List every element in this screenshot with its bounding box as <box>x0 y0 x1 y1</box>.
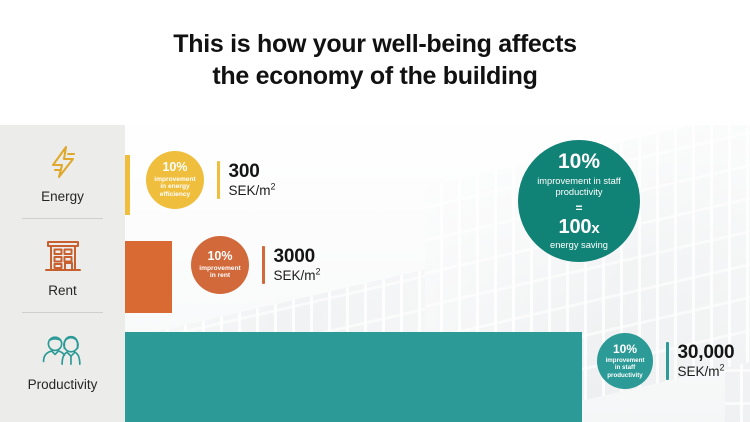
value-unit: SEK/m2 <box>678 364 735 380</box>
value-text: 300 SEK/m2 <box>229 161 276 199</box>
badge-percent: 10% <box>162 161 187 174</box>
metric-energy: 10% improvement in energy efficiency 300… <box>146 151 276 209</box>
badge-productivity: 10% improvement in staff productivity <box>597 333 653 389</box>
lightning-bolt-icon <box>40 139 86 185</box>
badge-subtitle-line-1: improvement <box>154 176 195 184</box>
hero-subtitle-line-2: productivity <box>555 187 602 198</box>
value-group-rent: 3000 SEK/m2 <box>262 246 321 284</box>
badge-subtitle-line-2: in rent <box>210 272 230 280</box>
badge-energy: 10% improvement in energy efficiency <box>146 151 204 209</box>
hero-percent: 10% <box>558 151 600 172</box>
value-number: 3000 <box>274 246 321 267</box>
bar-energy <box>125 155 130 215</box>
sidebar-item-label: Productivity <box>28 378 98 392</box>
value-unit: SEK/m2 <box>229 183 276 199</box>
value-tick <box>262 246 265 284</box>
value-group-energy: 300 SEK/m2 <box>217 161 276 199</box>
hero-callout-circle: 10% improvement in staff productivity = … <box>518 140 640 262</box>
badge-rent: 10% improvement in rent <box>191 236 249 294</box>
badge-subtitle-line-2: in energy <box>160 183 189 191</box>
sidebar-item-energy[interactable]: Energy <box>0 125 125 218</box>
hero-note: energy saving <box>550 240 608 251</box>
value-tick <box>666 342 669 380</box>
badge-subtitle-line-1: improvement <box>199 265 240 273</box>
badge-subtitle-line-2: in staff <box>615 364 635 371</box>
sidebar: Energy Rent <box>0 125 125 422</box>
value-number: 300 <box>229 161 276 182</box>
sidebar-item-label: Energy <box>41 190 84 204</box>
value-unit: SEK/m2 <box>274 268 321 284</box>
value-number: 30,000 <box>678 342 735 363</box>
hero-subtitle-line-1: improvement in staff <box>537 176 621 187</box>
metric-productivity: 10% improvement in staff productivity 30… <box>597 333 734 389</box>
bar-productivity <box>125 332 582 422</box>
value-group-productivity: 30,000 SEK/m2 <box>666 342 734 380</box>
header: This is how your well-being affects the … <box>0 0 750 125</box>
title-line-1: This is how your well-being affects <box>173 28 576 60</box>
sidebar-item-productivity[interactable]: Productivity <box>0 313 125 406</box>
bar-rent <box>125 241 172 313</box>
sidebar-item-label: Rent <box>48 284 77 298</box>
page-title: This is how your well-being affects the … <box>173 28 576 98</box>
content-stage: Energy Rent <box>0 125 750 422</box>
title-line-2: the economy of the building <box>173 60 576 92</box>
badge-subtitle-line-1: improvement <box>606 357 645 364</box>
hero-multiplier: 100x <box>559 217 600 237</box>
badge-percent: 10% <box>207 250 232 263</box>
value-text: 3000 SEK/m2 <box>274 246 321 284</box>
slide-canvas: This is how your well-being affects the … <box>0 0 750 422</box>
metric-rent: 10% improvement in rent 3000 SEK/m2 <box>191 236 321 294</box>
hero-equals-sign: = <box>575 202 582 214</box>
building-icon <box>40 233 86 279</box>
two-people-icon <box>40 327 86 373</box>
badge-subtitle-line-3: efficiency <box>160 191 190 199</box>
badge-subtitle-line-3: productivity <box>607 372 642 379</box>
value-text: 30,000 SEK/m2 <box>678 342 735 380</box>
sidebar-item-rent[interactable]: Rent <box>0 219 125 312</box>
value-tick <box>217 161 220 199</box>
badge-percent: 10% <box>613 343 637 355</box>
